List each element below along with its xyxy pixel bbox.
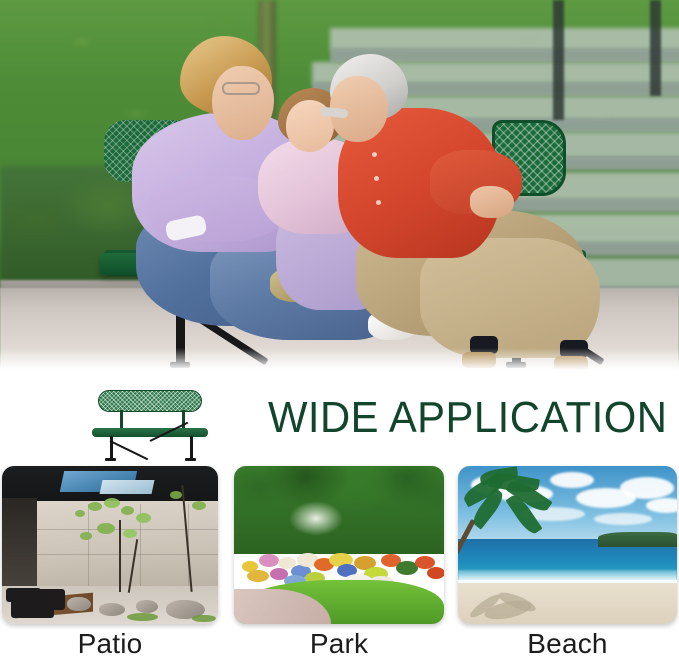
fence-post-1 <box>553 0 564 120</box>
application-cards <box>0 466 679 626</box>
green-park-bench-icon <box>86 390 216 462</box>
card-beach[interactable] <box>458 466 677 624</box>
card-park[interactable] <box>234 466 444 624</box>
card-label-park: Park <box>234 628 444 662</box>
card-label-beach: Beach <box>458 628 677 662</box>
product-feature-page: WIDE APPLICATION <box>0 0 679 665</box>
hero-bottom-fade <box>0 348 679 374</box>
page-title: WIDE APPLICATION <box>268 393 667 443</box>
fence-post-2 <box>650 0 661 96</box>
card-patio[interactable] <box>2 466 218 624</box>
card-label-patio: Patio <box>2 628 218 662</box>
hero-lifestyle-image <box>0 0 679 374</box>
